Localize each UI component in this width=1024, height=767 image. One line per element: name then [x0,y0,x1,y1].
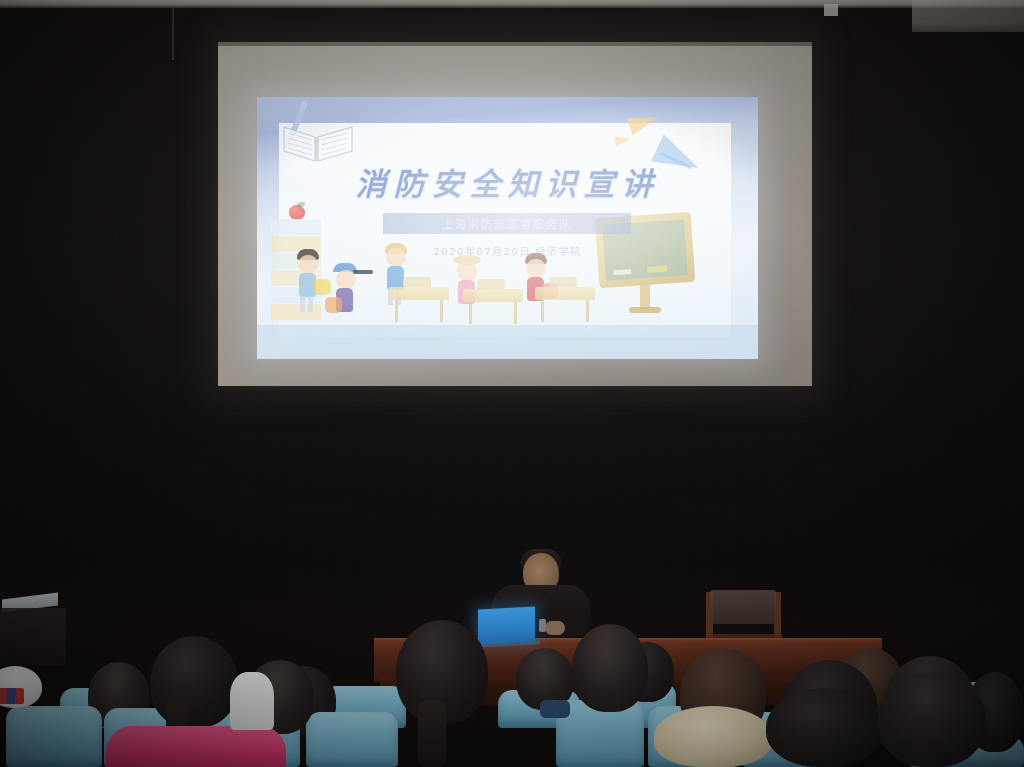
ceiling-panel-right [912,0,1024,32]
fur-hood-student [654,706,772,767]
blackboard-foot [629,307,661,313]
open-book-icon [281,115,355,163]
apple-icon [289,205,305,220]
audience-head [150,636,238,728]
chair-backrest [710,590,776,624]
audience-head [572,624,648,712]
lectern-body [0,608,66,666]
slide-ground-band [257,325,758,359]
slide-subtitle: 上海消防志愿者服务队 [442,216,572,232]
cap-logo [0,688,24,704]
projected-slide: 消防安全知识宣讲 上海消防志愿者服务队 2020年07月20日 经济学院 [257,97,758,359]
screen-top-rail [218,42,812,46]
chalk-stick [647,265,667,272]
slide-date-line: 2020年07月20日 经济学院 [257,243,758,258]
slide-subtitle-bar: 上海消防志愿者服务队 [383,213,631,234]
ceiling-mount-bracket [824,4,838,16]
ceiling-light-strip [0,0,1024,8]
slide-title: 消防安全知识宣讲 [257,159,758,204]
blackboard-post [640,283,650,309]
pink-coat-student [106,726,286,767]
audience-seat [6,706,102,767]
audience-head [766,688,884,767]
white-hood-student [230,672,274,730]
blue-scarf [540,700,570,718]
audience-seat [306,712,398,767]
chalk-eraser [613,269,631,275]
auditorium-photo: 消防安全知识宣讲 上海消防志愿者服务队 2020年07月20日 经济学院 [0,0,1024,767]
lectern [0,596,84,668]
speaker-hand [545,621,565,635]
laptop-screen [478,607,535,645]
audience-head [878,672,986,767]
ponytail [418,700,446,767]
wall-seam [172,8,174,60]
